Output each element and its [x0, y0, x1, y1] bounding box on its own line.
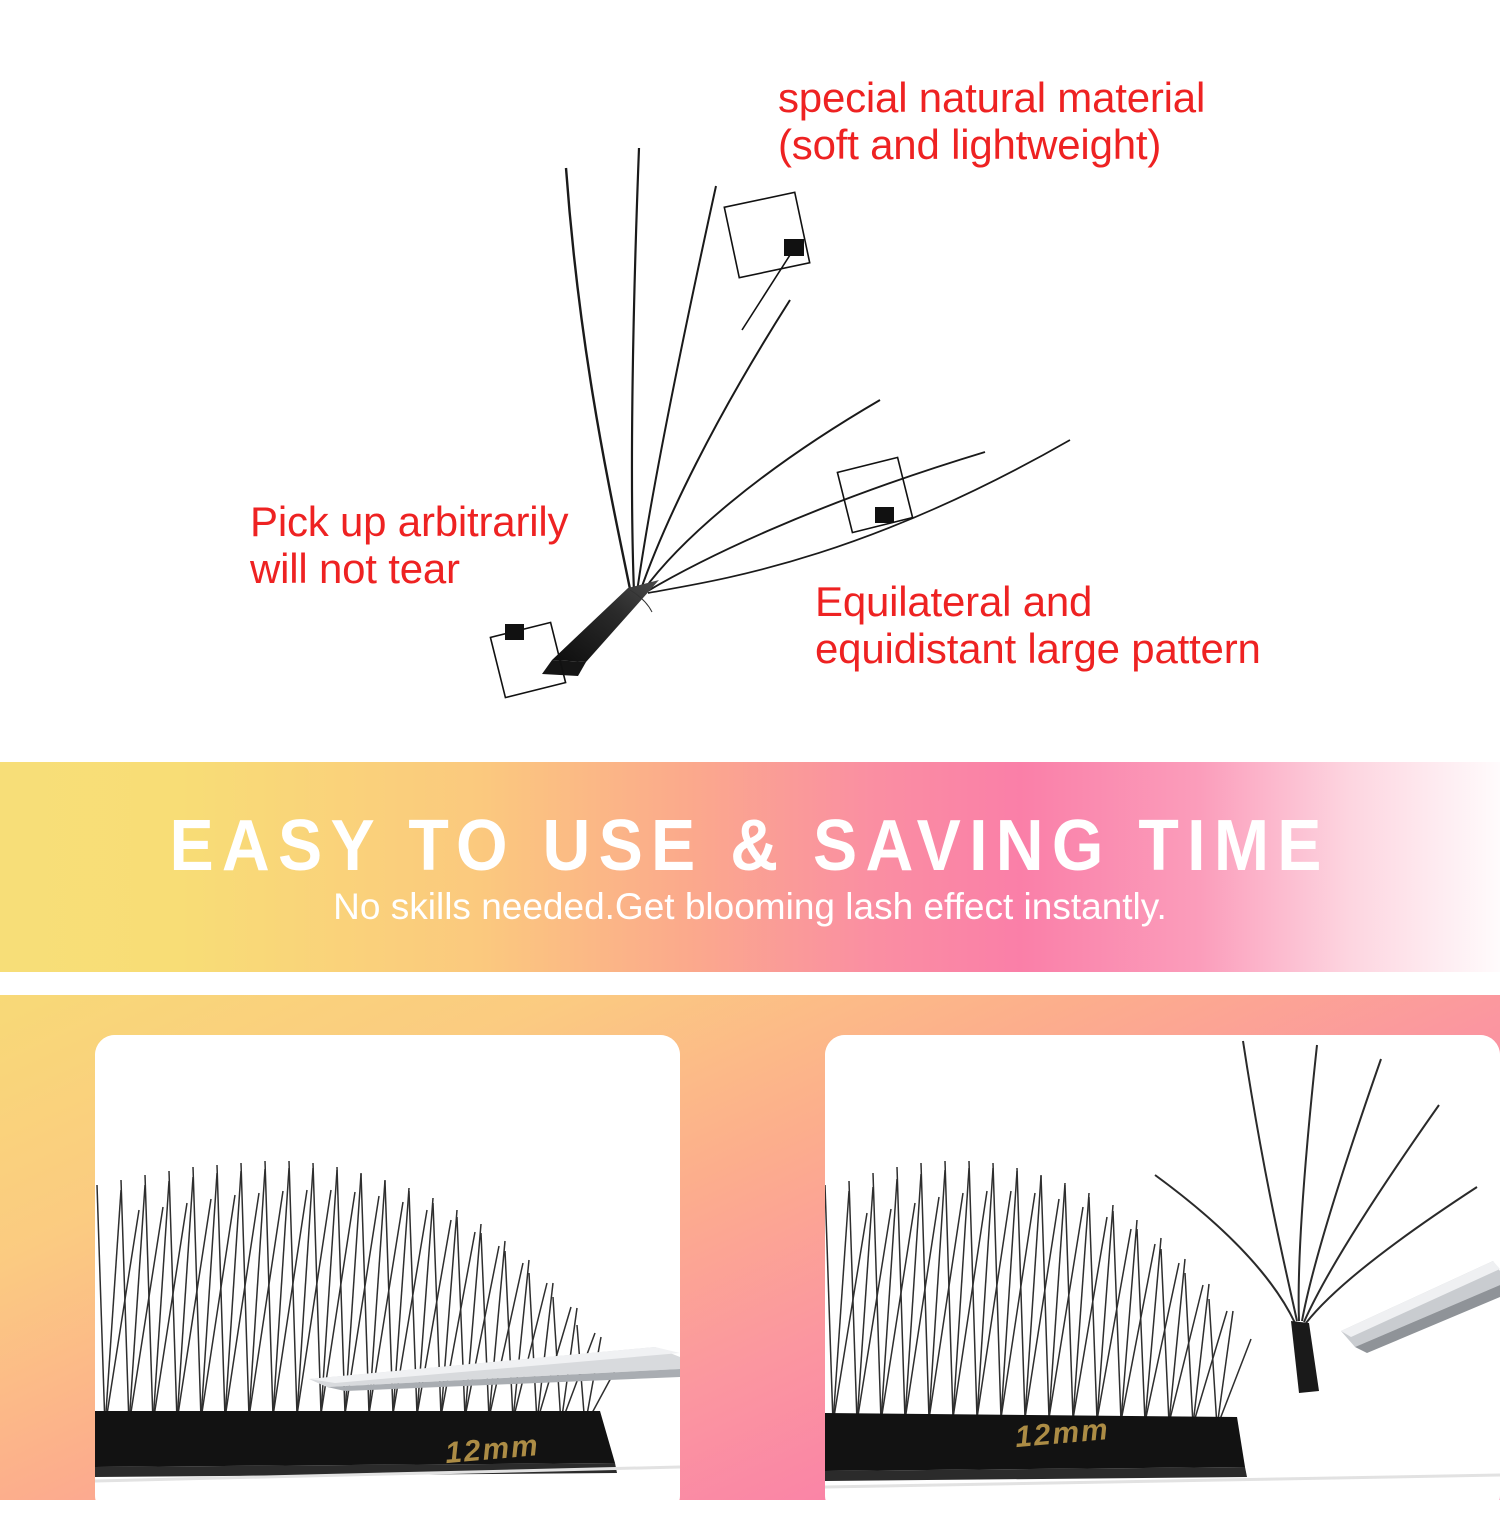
- product-photo-section: 12mm: [0, 995, 1500, 1500]
- banner-title: EASY TO USE & SAVING TIME: [170, 810, 1330, 882]
- banner-subtitle: No skills needed.Get blooming lash effec…: [333, 888, 1167, 925]
- feature-diagram-section: special natural material (soft and light…: [0, 0, 1500, 762]
- callout-marker-material: [724, 192, 809, 330]
- promo-banner: EASY TO USE & SAVING TIME No skills need…: [0, 762, 1500, 972]
- lash-tray-photo: [95, 1035, 680, 1515]
- callout-material-label: special natural material (soft and light…: [778, 74, 1205, 168]
- callout-pattern-label: Equilateral and equidistant large patter…: [815, 578, 1261, 672]
- lash-strands: [566, 148, 1070, 594]
- callout-pickup-label: Pick up arbitrarily will not tear: [250, 498, 568, 592]
- callout-marker-pattern: [837, 457, 912, 532]
- photo-card-fan-lifted: 12mm: [825, 1035, 1500, 1515]
- photo-card-tray-tweezers: 12mm: [95, 1035, 680, 1515]
- lash-fan-lifted-photo: [825, 1035, 1500, 1515]
- lash-fan-diagram: [0, 0, 1500, 762]
